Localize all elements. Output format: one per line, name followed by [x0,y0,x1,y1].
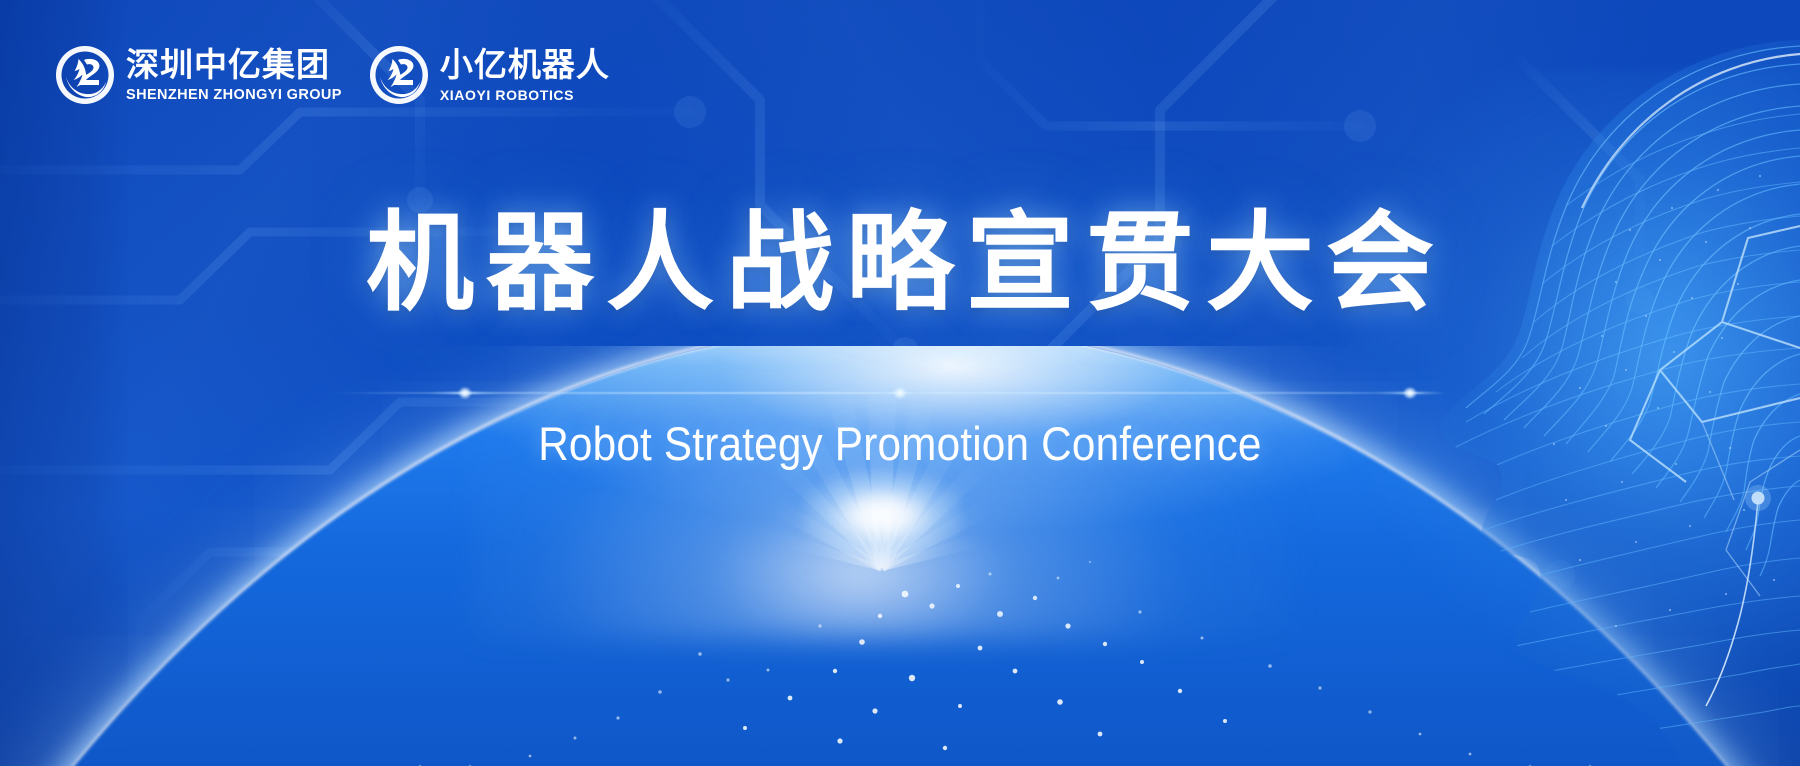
zhongyi-circular-emblem-icon [54,44,116,106]
logo-text-xiaoyi-robotics: 小亿机器人 XIAOYI ROBOTICS [440,48,610,102]
logo-text-shenzhen-zhongyi: 深圳中亿集团 SHENZHEN ZHONGYI GROUP [126,48,342,103]
flare-point-right [1373,372,1447,414]
logo-xiaoyi-robotics[interactable]: 小亿机器人 XIAOYI ROBOTICS [368,44,610,106]
flare-divider [330,384,1450,402]
logo-row: 深圳中亿集团 SHENZHEN ZHONGYI GROUP 小亿机器人 XIAO… [54,44,610,106]
logo-name-cn: 小亿机器人 [440,48,610,81]
logo-shenzhen-zhongyi-group[interactable]: 深圳中亿集团 SHENZHEN ZHONGYI GROUP [54,44,342,106]
flare-point-left [428,372,502,414]
flare-point-center [863,372,937,414]
xiaoyi-circular-emblem-icon [368,44,430,106]
logo-name-en: XIAOYI ROBOTICS [440,88,574,102]
logo-name-cn: 深圳中亿集团 [126,48,330,81]
sunrise-core [802,470,962,560]
logo-name-en: SHENZHEN ZHONGYI GROUP [126,88,342,103]
conference-banner: 深圳中亿集团 SHENZHEN ZHONGYI GROUP 小亿机器人 XIAO… [0,0,1800,766]
